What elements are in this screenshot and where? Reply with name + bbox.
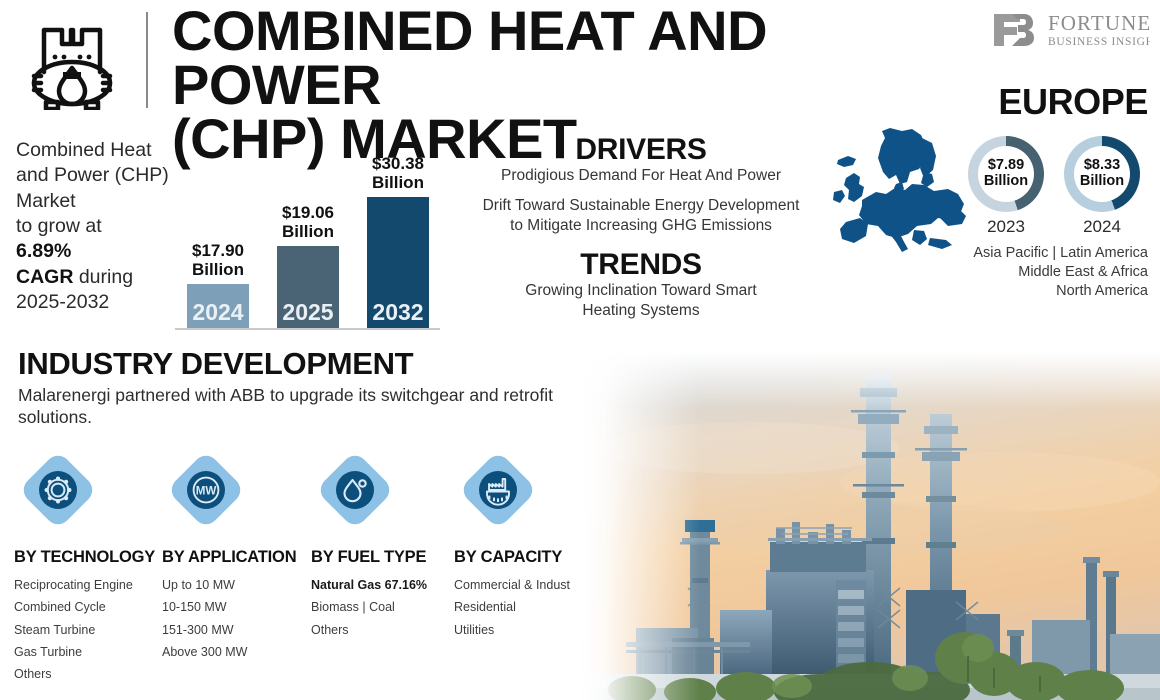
segment-list-by-technology: Reciprocating Engine Combined Cycle Stea… <box>14 574 133 685</box>
power-plant-photo <box>570 352 1160 700</box>
svg-text:FORTUNE: FORTUNE <box>1048 11 1150 35</box>
segment-title-by-application: BY APPLICATION <box>162 548 296 567</box>
segment-by-application: MW BY APPLICATION Up to 10 MW 10-150 MW … <box>162 452 244 528</box>
bar-group-1: $19.06 Billion 2025 <box>277 246 339 328</box>
donut-2024: $8.33 Billion 2024 <box>1064 136 1140 237</box>
summary-line-1: Combined Heat <box>16 139 152 161</box>
driver-item-2: to Mitigate Increasing GHG Emissions <box>452 216 830 236</box>
summary-line-2: and Power (CHP) <box>16 164 169 186</box>
region-line-2: North America <box>918 282 1148 301</box>
segment-by-technology: BY TECHNOLOGY Reciprocating Engine Combi… <box>14 452 96 528</box>
trend-item-0: Growing Inclination Toward Smart <box>452 281 830 301</box>
summary-line-4: to grow at <box>16 215 102 237</box>
fortune-business-insights-logo: FORTUNE BUSINESS INSIGHTS <box>990 8 1150 52</box>
driver-item-1: Drift Toward Sustainable Energy Developm… <box>452 196 830 216</box>
svg-text:MW: MW <box>196 485 217 498</box>
svg-text:BUSINESS INSIGHTS: BUSINESS INSIGHTS <box>1048 36 1150 48</box>
donut-year-2024: 2024 <box>1064 217 1140 237</box>
donut-value-2023: $7.89 <box>988 158 1024 174</box>
fuel-droplet-icon <box>336 471 374 509</box>
segment-item: 151-300 MW <box>162 619 247 641</box>
segment-badge <box>460 452 536 528</box>
segment-list-by-capacity: Commercial & Industrial Residential Util… <box>454 574 587 641</box>
segment-badge <box>317 452 393 528</box>
segment-item: Reciprocating Engine <box>14 574 133 596</box>
donut-2023: $7.89 Billion 2023 <box>968 136 1044 237</box>
segment-badge: MW <box>168 452 244 528</box>
europe-map-icon <box>832 126 978 254</box>
segment-title-by-fuel-type: BY FUEL TYPE <box>311 548 426 567</box>
segment-by-fuel-type: BY FUEL TYPE Natural Gas 67.16% Biomass … <box>311 452 393 528</box>
donut-unit-2023: Billion <box>984 174 1028 190</box>
segments-block: BY TECHNOLOGY Reciprocating Engine Combi… <box>14 452 594 698</box>
bar-rect-1: $19.06 Billion 2025 <box>277 246 339 328</box>
industry-development-body: Malarenergi partnered with ABB to upgrad… <box>18 384 578 429</box>
donut-ring-2023: $7.89 Billion <box>968 136 1044 212</box>
spacer <box>452 236 830 249</box>
turbine-gear-icon <box>39 471 77 509</box>
donut-ring-2024: $8.33 Billion <box>1064 136 1140 212</box>
segment-item: Combined Cycle <box>14 596 133 618</box>
trend-item-1: Heating Systems <box>452 301 830 321</box>
segment-item: Above 300 MW <box>162 641 247 663</box>
donut-label-2023: $7.89 Billion <box>968 136 1044 212</box>
segment-item: Biomass | Coal <box>311 596 427 618</box>
segment-item: Gas Turbine <box>14 641 133 663</box>
bar-value-1: $19.06 Billion <box>263 204 353 246</box>
donut-year-2023: 2023 <box>968 217 1044 237</box>
segment-list-by-fuel-type: Natural Gas 67.16% Biomass | Coal Others <box>311 574 427 641</box>
market-summary-text: Combined Heat and Power (CHP) Market to … <box>16 138 186 315</box>
trends-heading: TRENDS <box>452 249 830 281</box>
donut-label-2024: $8.33 Billion <box>1064 136 1140 212</box>
segment-title-by-capacity: BY CAPACITY <box>454 548 562 567</box>
market-bar-chart: $17.90 Billion 2024 $19.06 Billion 2025 … <box>175 140 440 330</box>
chp-boiler-icon <box>18 10 128 110</box>
spacer <box>452 187 830 196</box>
regions-list: Asia Pacific | Latin America Middle East… <box>918 244 1148 301</box>
during-word: during <box>73 266 133 288</box>
bar-year-0: 2024 <box>187 299 249 326</box>
bar-year-1: 2025 <box>277 299 339 326</box>
segment-title-by-technology: BY TECHNOLOGY <box>14 548 155 567</box>
driver-item-0: Prodigious Demand For Heat And Power <box>452 166 830 186</box>
logo-mark <box>994 14 1034 46</box>
donut-unit-2024: Billion <box>1080 174 1124 190</box>
segment-badge <box>20 452 96 528</box>
header: COMBINED HEAT AND POWER (CHP) MARKET FOR… <box>0 0 1160 120</box>
header-divider <box>146 12 148 108</box>
segment-item: Up to 10 MW <box>162 574 247 596</box>
cagr-value: 6.89% <box>16 240 71 262</box>
bar-rect-0: $17.90 Billion 2024 <box>187 284 249 328</box>
cagr-label: CAGR <box>16 266 73 288</box>
segment-list-by-application: Up to 10 MW 10-150 MW 151-300 MW Above 3… <box>162 574 247 663</box>
megawatt-icon: MW <box>187 471 225 509</box>
bar-rect-2: $30.38 Billion 2032 <box>367 197 429 328</box>
bar-group-0: $17.90 Billion 2024 <box>187 284 249 328</box>
segment-item: Residential <box>454 596 587 618</box>
drivers-heading: DRIVERS <box>452 134 830 166</box>
segment-item: Steam Turbine <box>14 619 133 641</box>
segment-item: Commercial & Industrial <box>454 574 587 596</box>
europe-heading: EUROPE <box>998 84 1148 120</box>
page-title-line1: COMBINED HEAT AND POWER <box>172 0 767 116</box>
drivers-trends-block: DRIVERS Prodigious Demand For Heat And P… <box>452 134 830 321</box>
factory-gear-icon <box>479 471 517 509</box>
segment-item: Utilities <box>454 619 587 641</box>
segment-item: 10-150 MW <box>162 596 247 618</box>
bar-value-2: $30.38 Billion <box>353 155 443 197</box>
europe-donut-charts: $7.89 Billion 2023 $8.33 Billion 2024 <box>968 136 1154 236</box>
bar-value-0: $17.90 Billion <box>173 242 263 284</box>
segment-item-highlighted: Natural Gas 67.16% <box>311 574 427 596</box>
region-line-1: Middle East & Africa <box>918 263 1148 282</box>
segment-item: Others <box>14 663 133 685</box>
bar-year-2: 2032 <box>367 299 429 326</box>
chart-baseline <box>175 328 440 330</box>
donut-value-2024: $8.33 <box>1084 158 1120 174</box>
bar-group-2: $30.38 Billion 2032 <box>367 197 429 328</box>
segment-by-capacity: BY CAPACITY Commercial & Industrial Resi… <box>454 452 536 528</box>
region-line-0: Asia Pacific | Latin America <box>918 244 1148 263</box>
summary-line-3: Market <box>16 190 76 212</box>
infographic-root: COMBINED HEAT AND POWER (CHP) MARKET FOR… <box>0 0 1160 700</box>
forecast-period: 2025-2032 <box>16 291 109 313</box>
segment-item: Others <box>311 619 427 641</box>
industry-development-heading: INDUSTRY DEVELOPMENT <box>18 348 413 379</box>
